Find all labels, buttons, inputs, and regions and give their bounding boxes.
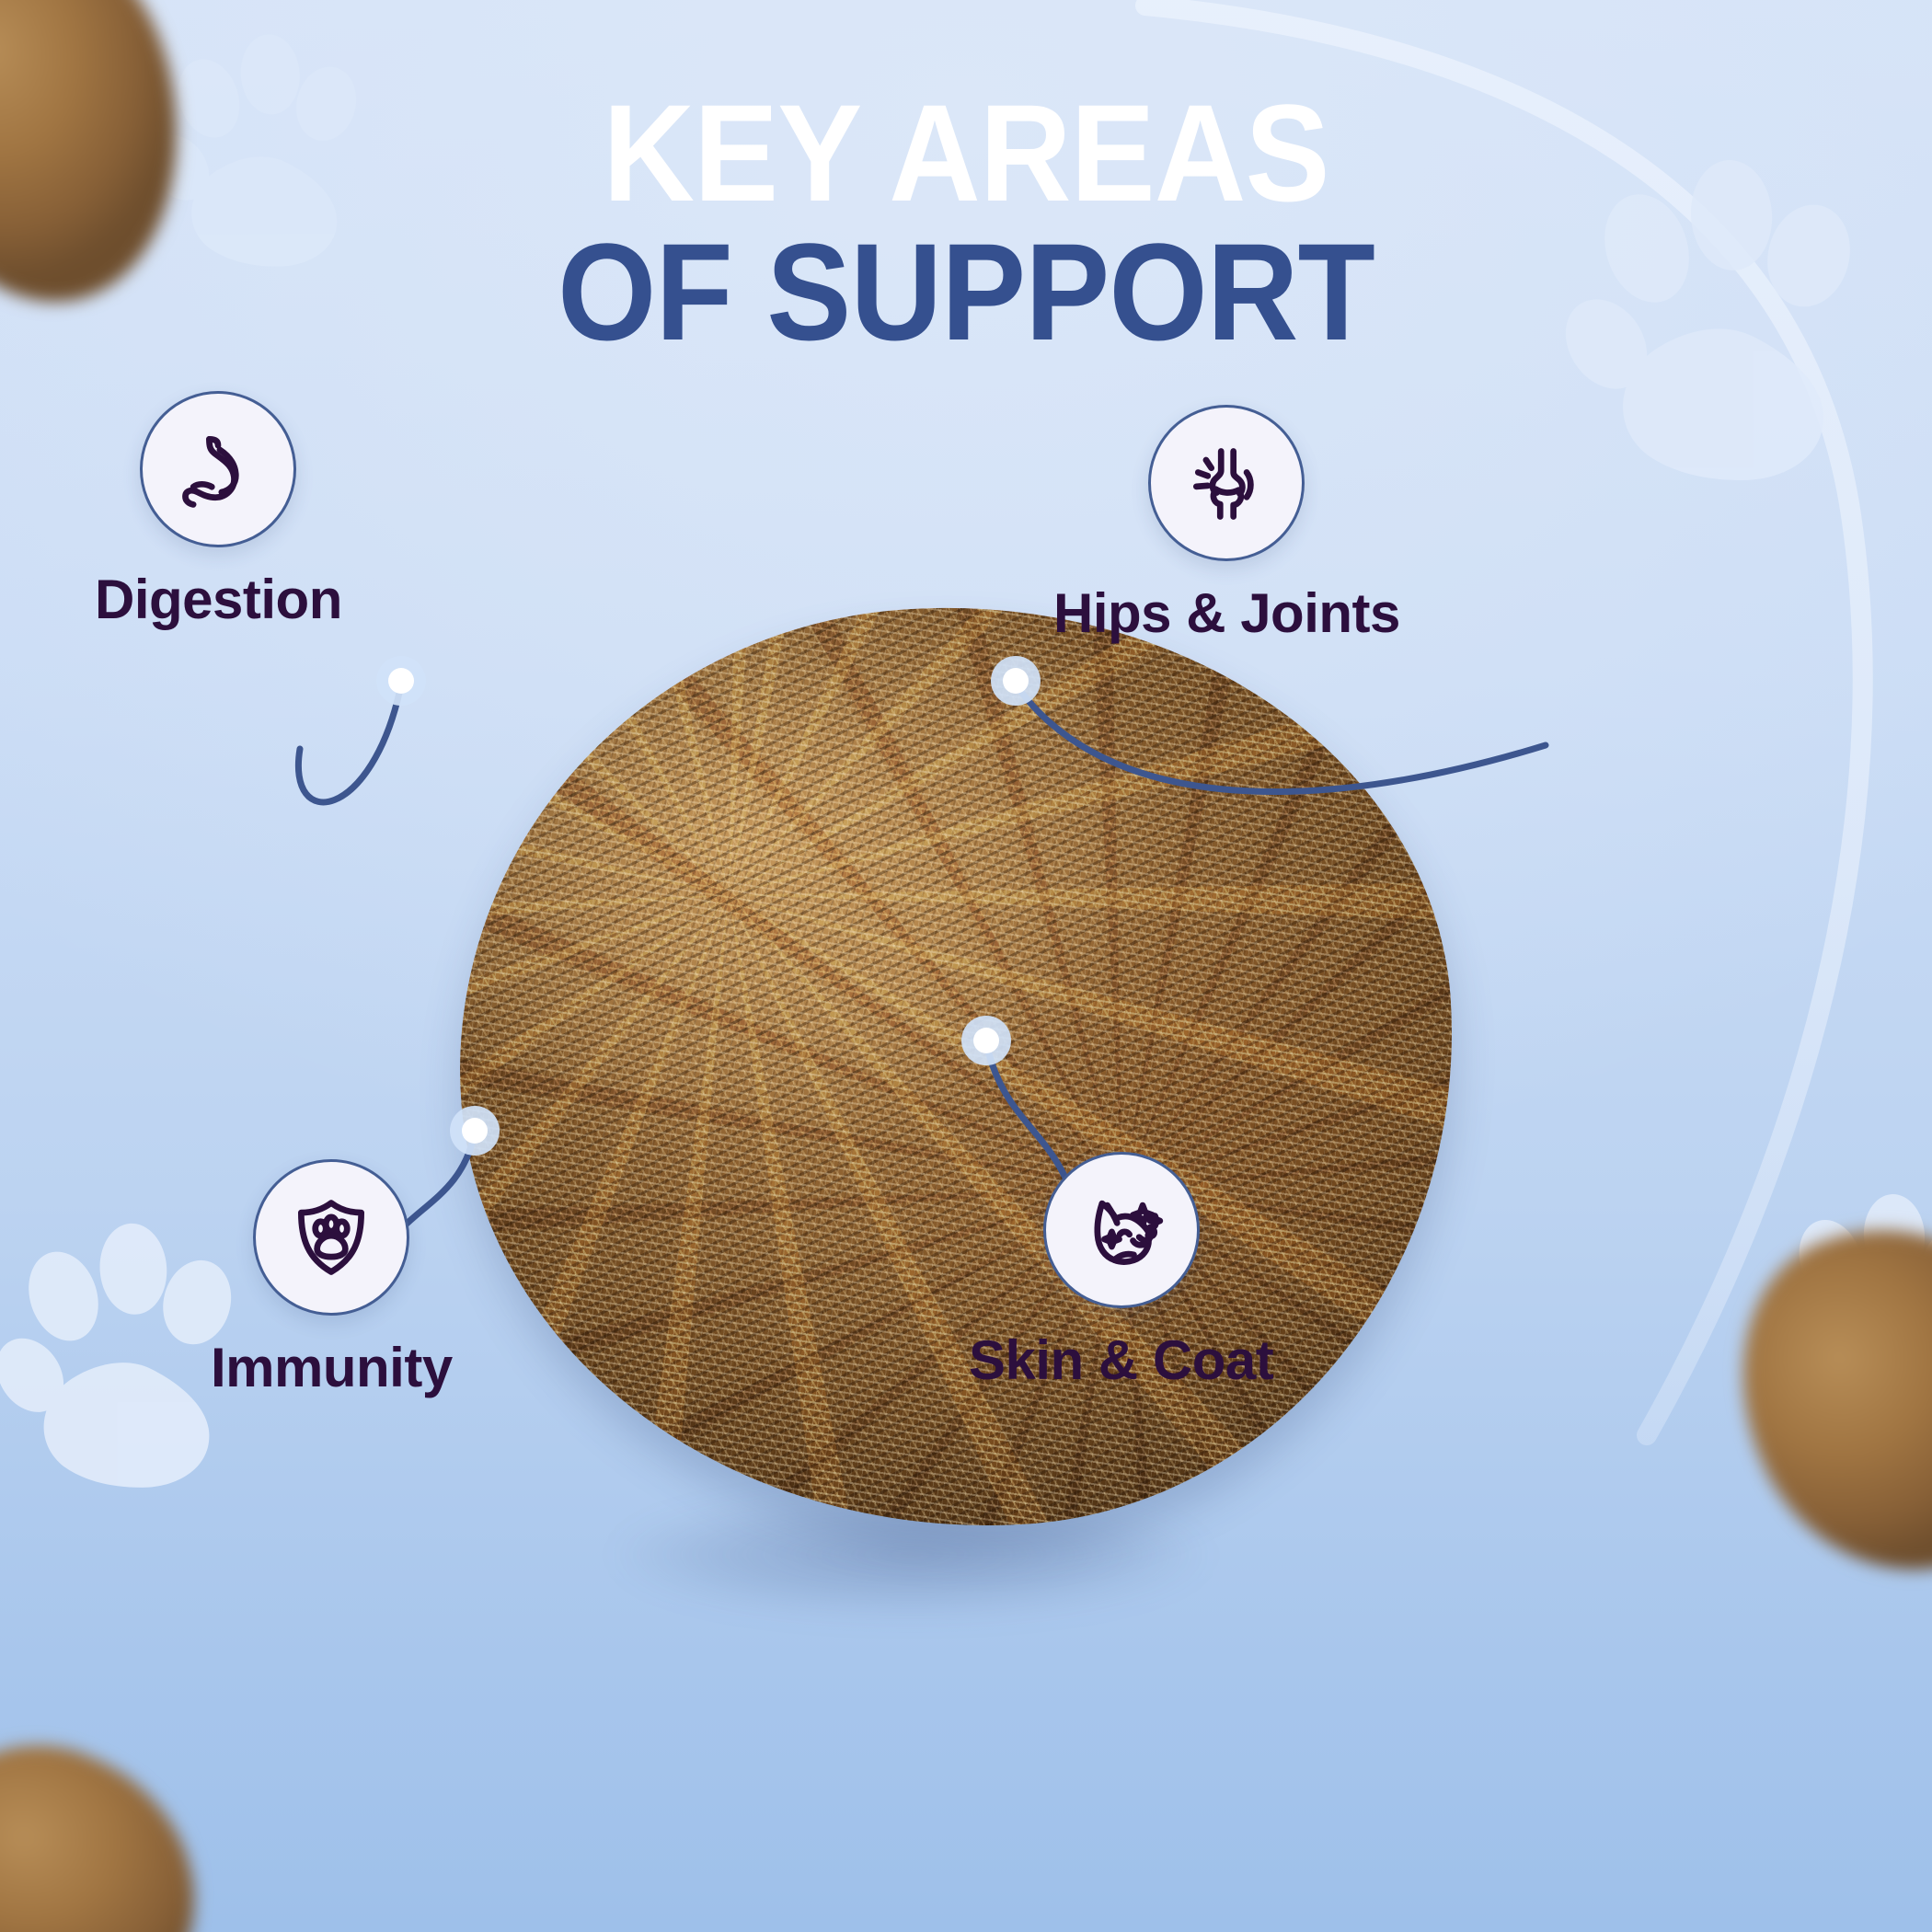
feature-label-digestion: Digestion <box>95 568 342 631</box>
marker-core <box>462 1118 488 1144</box>
dog-head-sparkle-icon <box>1077 1186 1166 1274</box>
marker-skin-coat[interactable] <box>961 1016 1011 1065</box>
feature-node-hips-joints[interactable]: Hips & Joints <box>1053 405 1400 645</box>
feature-node-digestion[interactable]: Digestion <box>95 391 342 631</box>
marker-digestion[interactable] <box>376 656 426 706</box>
feature-icon-bubble <box>1043 1152 1200 1308</box>
marker-core <box>1003 668 1029 694</box>
feature-icon-bubble <box>253 1159 409 1316</box>
marker-core <box>388 668 414 694</box>
feature-node-immunity[interactable]: Immunity <box>211 1159 453 1399</box>
stomach-icon <box>174 425 262 513</box>
feature-icon-bubble <box>140 391 296 547</box>
marker-immunity[interactable] <box>450 1106 500 1156</box>
infographic-canvas: KEY AREAS OF SUPPORT <box>0 0 1932 1932</box>
knee-joint-icon <box>1182 439 1271 527</box>
marker-hips-joints[interactable] <box>991 656 1041 706</box>
feature-label-immunity: Immunity <box>211 1336 453 1399</box>
marker-core <box>973 1028 999 1053</box>
connector-lines-precise <box>0 0 1932 1932</box>
feature-icon-bubble <box>1148 405 1305 561</box>
feature-node-skin-coat[interactable]: Skin & Coat <box>969 1152 1273 1392</box>
shield-paw-icon <box>287 1193 375 1282</box>
feature-label-skin-coat: Skin & Coat <box>969 1328 1273 1392</box>
feature-label-hips-joints: Hips & Joints <box>1053 581 1400 645</box>
